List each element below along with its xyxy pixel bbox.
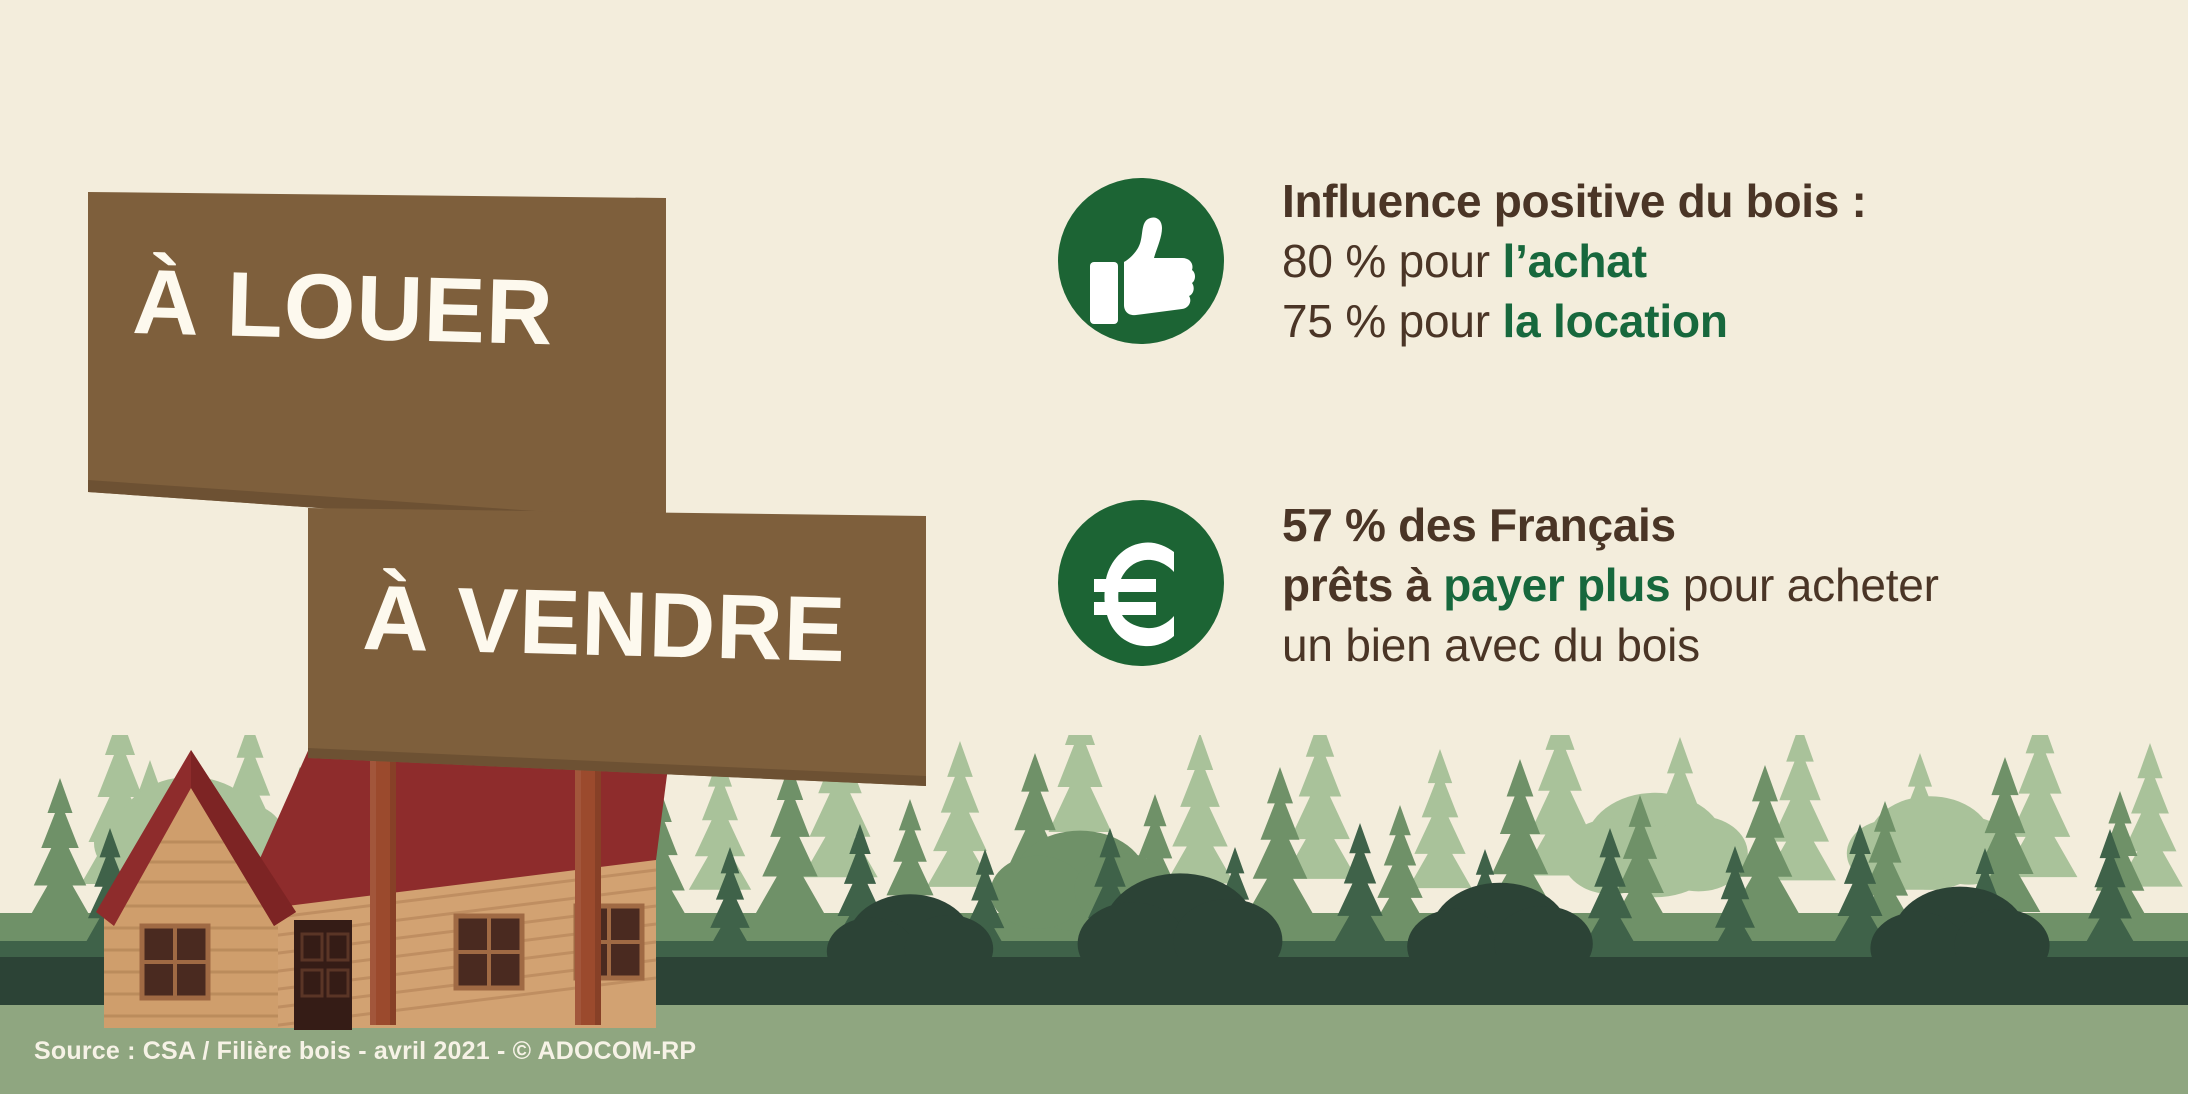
thumbs-up-badge [1058,178,1224,344]
stat-payer-plus-text: 57 % des Français prêts à payer plus pou… [1282,496,1939,675]
stat-line: 57 % des Français [1282,496,1939,556]
stat-line: 80 % pour l’achat [1282,232,1867,292]
stat-text-highlight: payer plus [1443,559,1670,611]
stat-text-part: 80 % pour [1282,235,1502,287]
sign-a-vendre-label: À VENDRE [362,572,848,676]
euro-badge [1058,500,1224,666]
sign-a-louer-label: À LOUER [132,256,555,359]
infographic-canvas: À LOUER À VENDRE Influence positive du b… [0,0,2188,1094]
stat-line: Influence positive du bois : [1282,172,1867,232]
sign-a-vendre[interactable]: À VENDRE [308,508,928,798]
stat-influence-bois-text: Influence positive du bois : 80 % pour l… [1282,172,1867,351]
stat-line: un bien avec du bois [1282,616,1939,676]
stat-text-part: 75 % pour [1282,295,1502,347]
stat-line: prêts à payer plus pour acheter [1282,556,1939,616]
source-credit: Source : CSA / Filière bois - avril 2021… [34,1037,696,1066]
stat-line: 75 % pour la location [1282,292,1867,352]
thumbs-up-icon [1058,178,1224,344]
stat-text-highlight: l’achat [1502,235,1646,287]
stat-text-part: pour acheter [1670,559,1938,611]
euro-icon [1058,500,1224,666]
stat-influence-bois: Influence positive du bois : 80 % pour l… [1058,178,1867,351]
stat-text-part: prêts à [1282,559,1443,611]
stat-text-highlight: la location [1502,295,1727,347]
stat-payer-plus: 57 % des Français prêts à payer plus pou… [1058,500,1939,675]
stat-text-part: un bien avec du bois [1282,619,1700,671]
stat-text-part: 57 % des Français [1282,499,1676,551]
stat-text-part: Influence positive du bois : [1282,175,1867,227]
